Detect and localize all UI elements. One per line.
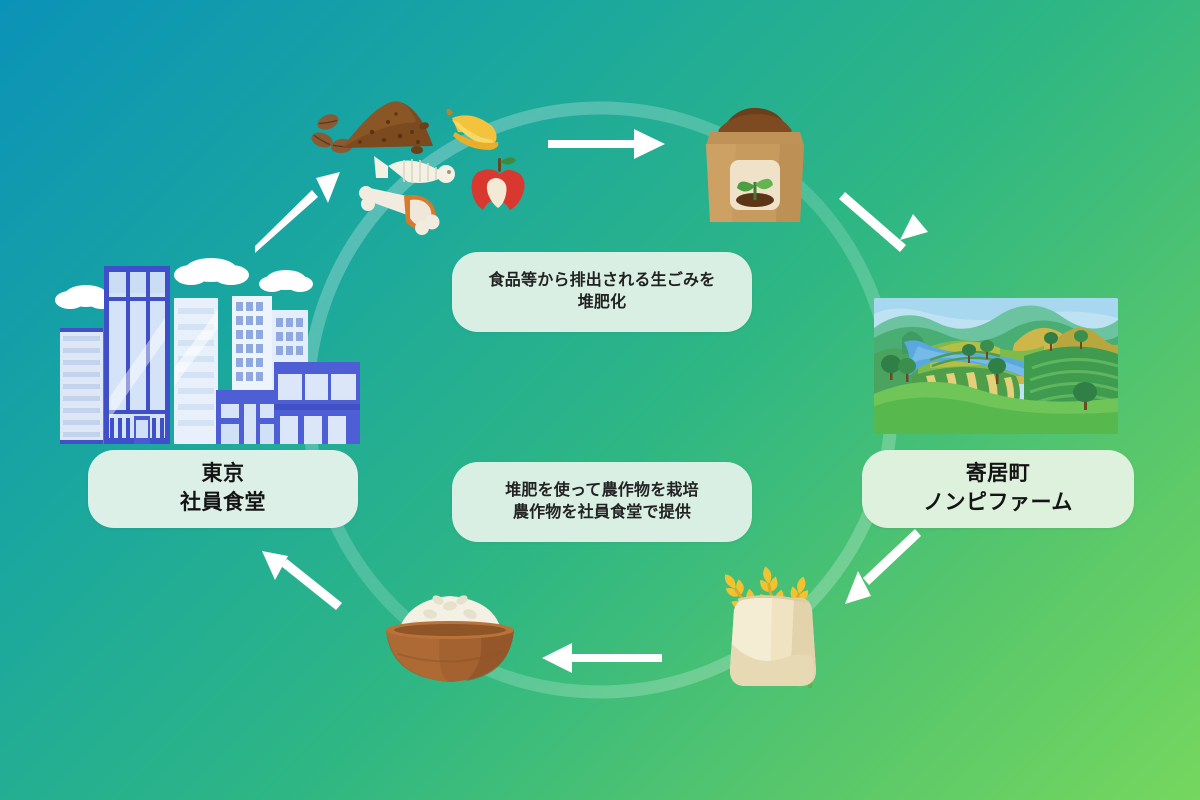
farmland-landscape-photo <box>874 298 1118 434</box>
step-label-harvest: 堆肥を使って農作物を栽培 農作物を社員食堂で提供 <box>452 462 752 542</box>
step2-line1: 堆肥を使って農作物を栽培 <box>505 480 699 502</box>
compost-bag-illustration <box>676 92 832 228</box>
step2-line2: 農作物を社員食堂で提供 <box>513 502 691 524</box>
step1-line2: 堆肥化 <box>578 292 627 314</box>
city-skyline-illustration <box>48 248 368 444</box>
food-waste-illustration <box>300 88 530 240</box>
step-label-compost: 食品等から排出される生ごみを 堆肥化 <box>452 252 752 332</box>
step1-line1: 食品等から排出される生ごみを <box>489 270 716 292</box>
rice-bowl-illustration <box>370 578 530 690</box>
node-label-farm: 寄居町 ノンピファーム <box>862 450 1134 528</box>
node-label-tokyo: 東京 社員食堂 <box>88 450 358 528</box>
tokyo-line1: 東京 <box>202 460 245 489</box>
infographic-canvas: 東京 社員食堂 寄居町 ノンピファーム 食品等から排出される生ごみを 堆肥化 堆… <box>0 0 1200 800</box>
tokyo-line2: 社員食堂 <box>180 489 266 518</box>
farm-line1: 寄居町 <box>966 460 1031 489</box>
grain-sack-illustration <box>694 558 850 692</box>
farm-line2: ノンピファーム <box>923 489 1073 518</box>
